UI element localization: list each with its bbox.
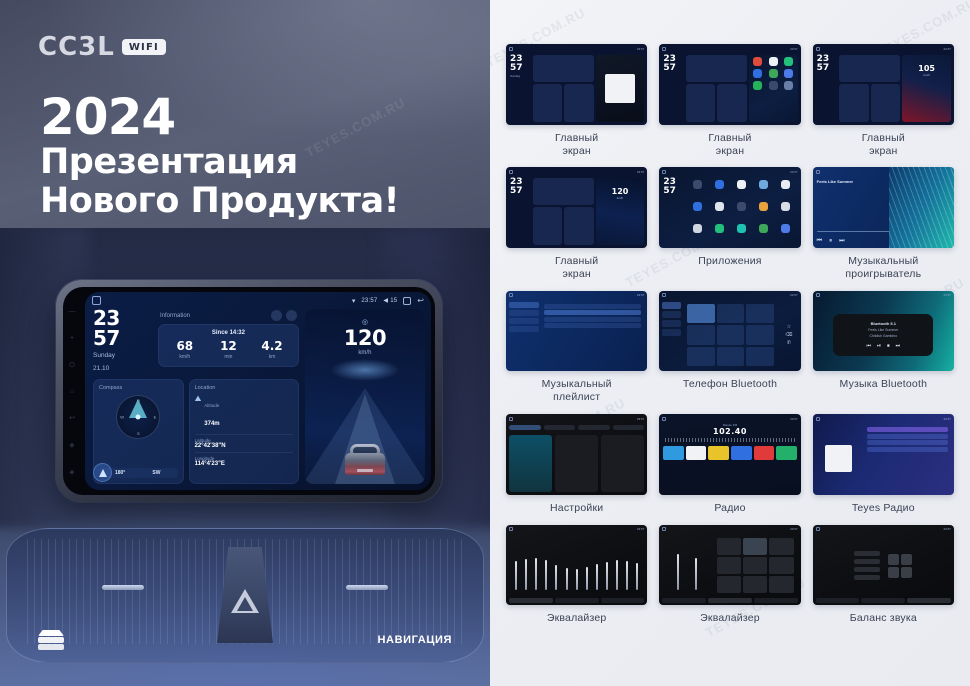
preset-station[interactable] (686, 446, 707, 460)
thumb-info-panel (533, 178, 594, 205)
plus-button[interactable]: + (70, 335, 74, 342)
pause-icon[interactable]: ⏸ (829, 238, 832, 245)
eq-slider[interactable] (545, 560, 547, 591)
gallery-item[interactable]: 23:57 23 57 (659, 44, 800, 157)
car-illustration (345, 443, 385, 475)
eq-tab[interactable] (662, 598, 706, 603)
preset-button[interactable] (769, 538, 793, 555)
gallery-item[interactable]: 23:57 23 57 (506, 167, 647, 280)
screen-thumbnail-home-speed-red[interactable]: 23:57 23 57 (813, 44, 954, 125)
eq-slider[interactable] (555, 565, 557, 590)
thumb-time: 23:57 (790, 417, 798, 421)
latitude-value: 22°42'38"N (195, 443, 293, 449)
key-7[interactable] (687, 347, 715, 367)
gallery-item[interactable]: 23:57 23 57 Sunday (506, 44, 647, 157)
radio-frequency: 102.40 (659, 427, 800, 436)
caption-line2: экран (555, 145, 598, 158)
stop-icon[interactable]: ⏹ (887, 343, 890, 349)
thumb-status-bar: 23:57 (506, 291, 647, 300)
thumb-body: 23 57 (659, 53, 800, 125)
thumb-status-bar: 23:57 (813, 414, 954, 423)
thumb-app-shortcuts (749, 55, 798, 122)
home-button[interactable]: ⌂ (70, 388, 74, 395)
caption-line2: проигрыватель (845, 268, 921, 281)
thumb-widgets (839, 55, 900, 122)
thumb-clock: 23 57 (662, 55, 684, 122)
speaker-rear-right[interactable] (901, 567, 912, 578)
app-icon (784, 69, 793, 78)
favorite-icon[interactable]: ☆ (787, 324, 791, 330)
altitude-value: 374m (204, 421, 219, 427)
thumb-location-panel (564, 84, 594, 122)
stat-value: 12 (207, 340, 251, 352)
speaker-rear-left[interactable] (888, 567, 899, 578)
minus-button[interactable]: — (69, 308, 76, 315)
station-row[interactable] (867, 440, 948, 445)
speaker-front-left[interactable] (888, 554, 899, 565)
key-2[interactable] (717, 304, 745, 324)
information-title: Information (160, 313, 267, 319)
since-label: Since 14:32 (163, 330, 294, 336)
sidebar-item[interactable] (509, 302, 539, 308)
thumb-caption: Баланс звука (850, 612, 917, 625)
thumb-status-bar: 23:57 (506, 167, 647, 176)
app-icon[interactable] (693, 224, 702, 233)
bluetooth-version: Bluetooth 5.1 (871, 321, 896, 326)
balance-body[interactable] (813, 534, 954, 599)
screens-gallery: TEYES.COM.RU TEYES.COM.RU TEYES.COM.RU T… (490, 0, 970, 686)
home-icon (662, 527, 666, 531)
thumb-speed-unit: km/h (902, 73, 951, 77)
latitude-row: Latitude 22°42'38"N (195, 434, 293, 449)
app-icon[interactable] (759, 202, 768, 211)
app-icon[interactable] (715, 180, 724, 189)
wifi-icon: ▾ (352, 297, 356, 305)
screen-thumbnail-home-media[interactable]: 23:57 23 57 Sunday (506, 44, 647, 125)
eq-slider[interactable] (566, 568, 568, 590)
radio-presets[interactable] (659, 444, 800, 462)
dialpad-tab-icon[interactable] (662, 302, 681, 309)
radio-tuning-scale[interactable] (665, 438, 794, 442)
preset-station[interactable] (754, 446, 775, 460)
balance-preset[interactable] (854, 559, 880, 564)
preset-button[interactable] (743, 557, 767, 574)
app-icon[interactable] (715, 224, 724, 233)
screen-thumbnail-home-speed[interactable]: 23:57 23 57 (506, 167, 647, 248)
app-icon[interactable] (693, 180, 702, 189)
thumb-caption: Музыкальный проигрыватель (845, 255, 921, 281)
app-icon[interactable] (781, 202, 790, 211)
history-tab-icon[interactable] (662, 329, 681, 336)
preset-button[interactable] (769, 576, 793, 593)
status-time: 23:57 (361, 298, 377, 304)
thumb-body: 23 57 105 km/h (813, 53, 954, 125)
app-icon[interactable] (737, 202, 746, 211)
preset-button[interactable] (717, 576, 741, 593)
thumb-clock-day: Sunday (510, 74, 531, 78)
gallery-item[interactable]: 23:57 Macau FM 102.40 Радио (659, 414, 800, 515)
thumb-body: Bluetooth 5.1 Feels Like Summer Childish… (813, 300, 954, 372)
track-row[interactable] (544, 310, 642, 315)
station-row[interactable] (867, 447, 948, 452)
home-icon[interactable] (92, 296, 101, 305)
preset-station[interactable] (731, 446, 752, 460)
phone-sidebar[interactable] (662, 302, 681, 369)
eq-slider[interactable] (535, 558, 537, 591)
screen-thumbnail-bluetooth-phone[interactable]: 23:57 (659, 291, 800, 372)
app-icon[interactable] (759, 224, 768, 233)
screen-thumbnail-music-player[interactable]: 23:57 Feels Like Summer ⏮ ⏸ ⏭ (813, 167, 954, 248)
equalizer-tabs[interactable] (506, 598, 647, 605)
thumb-body (506, 300, 647, 372)
home-icon (662, 417, 666, 421)
track-row[interactable] (544, 323, 642, 328)
tab-display[interactable] (578, 425, 610, 430)
tab-system[interactable] (613, 425, 645, 430)
teyes-artwork (816, 425, 862, 492)
location-widget[interactable]: Location ⛰ Altitude 374m (189, 379, 299, 484)
refresh-icon[interactable] (271, 310, 282, 321)
clock-minutes: 57 (93, 329, 149, 349)
thumb-status-bar: 23:57 (659, 414, 800, 423)
preset-button[interactable] (717, 538, 741, 555)
progress-bar[interactable] (817, 231, 900, 233)
thumb-status-bar: 23:57 (659, 167, 800, 176)
thumb-status-bar: 23:57 (813, 44, 954, 53)
thumb-caption: Главный экран (708, 132, 751, 158)
key-6[interactable] (746, 325, 774, 345)
search-tab-icon[interactable] (662, 320, 681, 327)
left-widgets-column: 23 57 Sunday 21.10 Information (93, 309, 299, 484)
app-icon[interactable] (737, 224, 746, 233)
thumb-status-bar: 23:57 (506, 525, 647, 534)
footer-label: НАВИГАЦИЯ (378, 634, 452, 646)
power-button[interactable]: ⏻ (69, 362, 75, 369)
teyes-station-list[interactable] (864, 425, 951, 492)
voice-button[interactable]: ◈ (69, 442, 74, 449)
mountain-icon: ⛰ (195, 394, 202, 404)
screen-content: 23 57 Sunday 21.10 Information (85, 309, 431, 490)
compass-title: Compass (99, 385, 178, 391)
home-icon (816, 417, 820, 421)
screen-thumbnail-home-apps[interactable]: 23:57 23 57 (659, 44, 800, 125)
caption-line1: Настройки (550, 502, 603, 515)
eq-tab[interactable] (754, 598, 798, 603)
gallery-item[interactable]: 23:57 (506, 291, 647, 404)
app-icon[interactable] (781, 224, 790, 233)
thumb-location-panel (564, 207, 594, 245)
key-3[interactable] (746, 304, 774, 324)
settings-tabs[interactable] (506, 423, 647, 432)
car-plate (357, 469, 373, 472)
home-icon (816, 293, 820, 297)
app-icon (784, 57, 793, 66)
balance-preset[interactable] (854, 551, 880, 556)
thumb-time: 23:57 (943, 293, 951, 297)
settings-icon[interactable] (286, 310, 297, 321)
app-icon-grid (749, 55, 798, 92)
head-unit-screen[interactable]: ▾ 23:57 ◀15 ↩ 23 57 (85, 292, 431, 490)
bluetooth-card: Bluetooth 5.1 Feels Like Summer Childish… (833, 314, 933, 355)
altitude-row: ⛰ Altitude 374m (195, 394, 293, 430)
thumb-caption: Главный экран (555, 132, 598, 158)
phone-actions[interactable]: ☆ ⌫ ✆ (780, 302, 798, 369)
fader-slider[interactable] (677, 554, 679, 590)
preset-grid[interactable] (713, 536, 798, 596)
gallery-item[interactable]: 23:57 23 57 (813, 44, 954, 157)
delete-icon[interactable]: ⌫ (785, 332, 792, 338)
thumb-clock-minutes: 57 (663, 187, 684, 196)
app-drawer-grid[interactable] (686, 178, 798, 245)
gallery-item[interactable]: 23:57 (659, 291, 800, 404)
preset-station[interactable] (776, 446, 797, 460)
contacts-tab-icon[interactable] (662, 311, 681, 318)
hero-footer: НАВИГАЦИЯ (0, 608, 490, 686)
gallery-item[interactable]: 23:57 23 57 (659, 167, 800, 280)
app-icon[interactable] (737, 180, 746, 189)
information-widget[interactable]: Information Since 14:32 (158, 309, 299, 374)
eq-slider[interactable] (636, 563, 638, 590)
more-card[interactable] (601, 435, 644, 492)
thumb-widgets (533, 55, 594, 122)
caption-line1: Музыка Bluetooth (840, 378, 928, 391)
sidebar-item[interactable] (509, 310, 539, 316)
thumb-lower-row (533, 84, 594, 122)
caption-line2: экран (555, 268, 598, 281)
eq-tab[interactable] (555, 598, 599, 603)
hero-panel: TEYES.COM.RU TEYES.COM.RU TEYES.COM.RU C… (0, 0, 490, 686)
trip-stats: 68 km/h 12 min (163, 340, 294, 360)
wifi-card[interactable] (509, 435, 552, 492)
home-icon (509, 170, 513, 174)
wifi-badge: WIFI (122, 39, 166, 55)
home-icon (662, 47, 666, 51)
horizon-glow (330, 359, 400, 381)
carplay-card[interactable] (555, 435, 598, 492)
playpause-icon[interactable]: ⏯ (877, 343, 881, 349)
fader-slider[interactable] (695, 558, 697, 590)
key-8[interactable] (717, 347, 745, 367)
caption-line1: Приложения (698, 255, 761, 268)
eq-slider[interactable] (596, 564, 598, 590)
caption-line1: Музыкальный (845, 255, 921, 268)
caption-line1: Баланс звука (850, 612, 917, 625)
track-row[interactable] (544, 317, 642, 322)
clock-and-info-row: 23 57 Sunday 21.10 Information (93, 309, 299, 374)
thumb-widgets (533, 178, 594, 245)
fader-sliders[interactable] (662, 536, 711, 596)
thumb-clock: 23 57 (509, 178, 531, 245)
next-icon[interactable]: ⏭ (896, 343, 901, 349)
key-9[interactable] (746, 347, 774, 367)
balance-tab[interactable] (816, 598, 860, 603)
screenshot-icon[interactable] (403, 297, 411, 305)
preset-station[interactable] (708, 446, 729, 460)
app-icon[interactable] (693, 202, 702, 211)
thumb-caption: Телефон Bluetooth (683, 378, 777, 391)
thumb-info-panel (839, 55, 900, 82)
thumb-compass-panel (839, 84, 869, 122)
thumb-time: 23:57 (637, 293, 645, 297)
thumb-lower-row (839, 84, 900, 122)
menu-button[interactable]: ◈ (69, 469, 74, 476)
screen-thumbnail-radio[interactable]: 23:57 Macau FM 102.40 (659, 414, 800, 495)
gallery-item[interactable]: 23:57 Bluetooth 5.1 Feels Like Summer Ch… (813, 291, 954, 404)
station-row[interactable] (867, 427, 948, 432)
bluetooth-controls[interactable]: ⏮ ⏯ ⏹ ⏭ (867, 343, 901, 349)
eq-slider[interactable] (616, 560, 618, 591)
stat-value: 68 (163, 340, 207, 352)
hero-headline-line2: Нового Продукта! (40, 182, 399, 221)
screen-thumbnail-apps[interactable]: 23:57 23 57 (659, 167, 800, 248)
thumb-compass-panel (533, 84, 563, 122)
thumb-status-bar: 23:57 (659, 44, 800, 53)
previous-icon[interactable]: ⏮ (817, 238, 822, 245)
playlist-sidebar[interactable] (509, 302, 539, 369)
tab-sound[interactable] (544, 425, 576, 430)
speaker-layout[interactable] (888, 554, 912, 578)
thumb-caption: Teyes Радио (852, 502, 915, 515)
gallery-item[interactable]: 23:57 (506, 525, 647, 626)
balance-presets[interactable] (854, 551, 880, 580)
location-title: Location (195, 385, 293, 391)
thumb-status-bar: 23:57 (506, 44, 647, 53)
thumb-location-panel (717, 84, 747, 122)
settings-cards[interactable] (506, 432, 647, 495)
preset-button[interactable] (743, 538, 767, 555)
balance-tab[interactable] (907, 598, 951, 603)
caption-line2: экран (708, 145, 751, 158)
thumb-caption: Радио (714, 502, 745, 515)
thumb-time: 23:57 (637, 47, 645, 51)
vent-slider-right (346, 585, 388, 590)
gallery-item[interactable]: 23:57 Настройки (506, 414, 647, 515)
balance-tabs[interactable] (813, 598, 954, 605)
tab-wifi[interactable] (509, 425, 541, 430)
eq-slider[interactable] (626, 561, 628, 591)
thumb-status-bar: 23:57 (813, 525, 954, 534)
app-icon[interactable] (715, 202, 724, 211)
preset-button[interactable] (769, 557, 793, 574)
back-button[interactable]: ↩ (69, 415, 75, 422)
playlist-track-list[interactable] (541, 302, 645, 369)
caption-line1: Эквалайзер (700, 612, 760, 625)
eq-slider[interactable] (515, 561, 517, 591)
previous-icon[interactable]: ⏮ (867, 343, 872, 349)
app-icon (769, 81, 778, 90)
stat-unit: km/h (163, 354, 207, 360)
eq-slider[interactable] (586, 567, 588, 590)
caption-line1: Музыкальный (542, 378, 612, 391)
key-4[interactable] (687, 325, 715, 345)
compass-south-label: S (137, 431, 140, 436)
thumb-clock: 23 57 (816, 55, 838, 122)
caption-line1: Главный (862, 132, 905, 145)
hero-headline-line1: Презентация (40, 143, 399, 182)
key-5[interactable] (717, 325, 745, 345)
track-row[interactable] (544, 304, 642, 309)
screen-thumbnail-settings[interactable]: 23:57 (506, 414, 647, 495)
thumb-time: 23:57 (943, 47, 951, 51)
eq-tab[interactable] (601, 598, 645, 603)
album-art (605, 74, 634, 103)
thumb-status-bar: 23:57 (659, 291, 800, 300)
gallery-item[interactable]: 23:57 (659, 525, 800, 626)
clock-widget[interactable]: 23 57 Sunday 21.10 (93, 309, 149, 374)
longitude-row: Longitude 114°4'23"E (195, 452, 293, 467)
gallery-item[interactable]: 23:57 Teyes (813, 414, 954, 515)
key-1[interactable] (687, 304, 715, 324)
balance-preset[interactable] (854, 575, 880, 580)
compass-west-label: W (120, 414, 124, 419)
balance-preset[interactable] (854, 567, 880, 572)
eq-slider[interactable] (606, 562, 608, 590)
longitude-value: 114°4'23"E (195, 461, 293, 467)
app-icon (753, 69, 762, 78)
thumb-clock: 23 57 (662, 178, 684, 245)
thumb-body: 23 57 (659, 176, 800, 248)
screen-thumbnail-equalizer-presets[interactable]: 23:57 (659, 525, 800, 606)
gallery-item[interactable]: 23:57 (813, 525, 954, 626)
gallery-item[interactable]: 23:57 Feels Like Summer ⏮ ⏸ ⏭ Музык (813, 167, 954, 280)
screen-thumbnail-playlist[interactable]: 23:57 (506, 291, 647, 372)
thumb-caption: Эквалайзер (547, 612, 607, 625)
app-icon[interactable] (781, 180, 790, 189)
thumb-caption: Музыкальный плейлист (542, 378, 612, 404)
sidebar-item[interactable] (509, 318, 539, 324)
thumb-speed-value: 120 (596, 178, 645, 196)
screen-thumbnail-bluetooth-music[interactable]: 23:57 Bluetooth 5.1 Feels Like Summer Ch… (813, 291, 954, 372)
thumb-time: 23:57 (943, 417, 951, 421)
thumb-clock-minutes: 57 (510, 187, 531, 196)
album-art (825, 445, 853, 473)
equalizer-sliders[interactable] (506, 534, 647, 599)
equalizer-tabs[interactable] (659, 598, 800, 605)
preset-station[interactable] (663, 446, 684, 460)
screen-thumbnail-equalizer-bars[interactable]: 23:57 (506, 525, 647, 606)
home-icon (662, 170, 666, 174)
station-row[interactable] (867, 434, 948, 439)
app-icon[interactable] (759, 180, 768, 189)
eq-tab[interactable] (509, 598, 553, 603)
balance-tab[interactable] (861, 598, 905, 603)
eq-slider[interactable] (525, 559, 527, 591)
hardware-button-strip[interactable]: — + ⏻ ⌂ ↩ ◈ ◈ (65, 298, 79, 486)
call-icon[interactable]: ✆ (787, 340, 791, 346)
layers-icon (38, 630, 64, 650)
thumb-status-bar: 23:57 (659, 525, 800, 534)
sidebar-item[interactable] (509, 326, 539, 332)
screen-thumbnail-sound-balance[interactable]: 23:57 (813, 525, 954, 606)
navigation-speed-widget[interactable]: ◎ 120 km/h (305, 309, 425, 484)
next-icon[interactable]: ⏭ (839, 238, 844, 245)
speaker-front-right[interactable] (901, 554, 912, 565)
preset-button[interactable] (743, 576, 767, 593)
thumb-info-panel (533, 55, 594, 82)
product-logo: CC3L WIFI (38, 32, 166, 62)
caption-line1: Teyes Радио (852, 502, 915, 515)
thumb-caption: Настройки (550, 502, 603, 515)
back-icon[interactable]: ↩ (417, 296, 424, 305)
preset-button[interactable] (717, 557, 741, 574)
eq-tab[interactable] (708, 598, 752, 603)
eq-slider[interactable] (576, 569, 578, 590)
screen-thumbnail-teyes-radio[interactable]: 23:57 (813, 414, 954, 495)
navigation-fab[interactable] (93, 463, 112, 482)
dial-keypad[interactable] (683, 302, 778, 369)
compass-north-label: N (137, 398, 140, 403)
thumb-clock-minutes: 57 (817, 64, 838, 73)
